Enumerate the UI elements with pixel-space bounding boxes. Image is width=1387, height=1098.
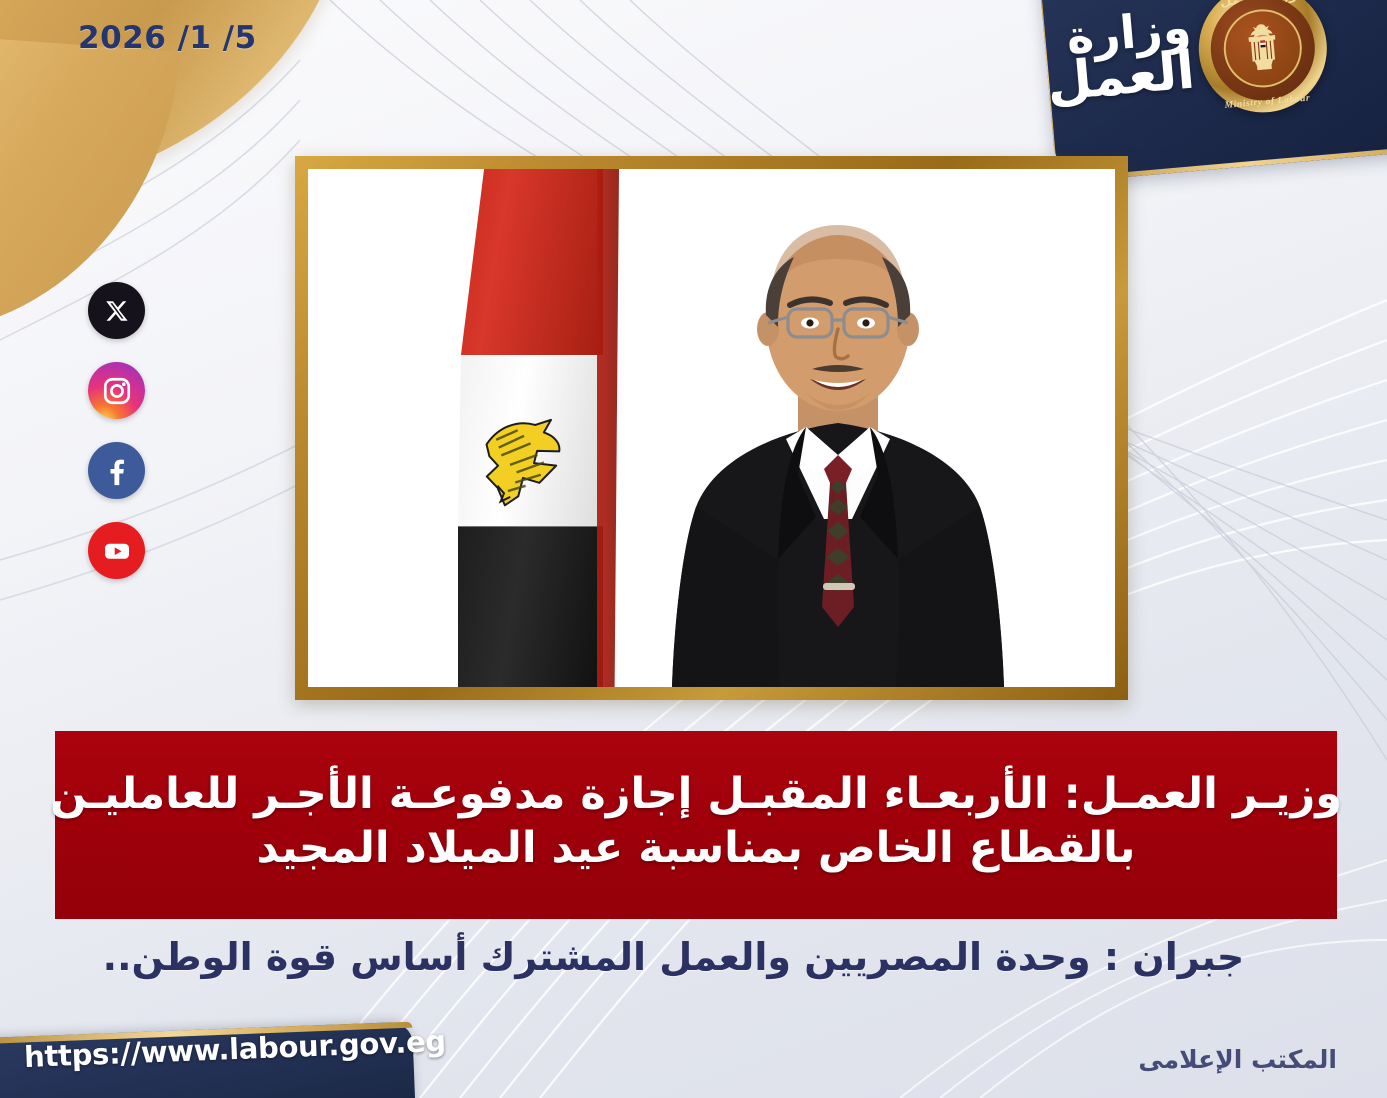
social-links — [88, 282, 145, 579]
poster-canvas: 2026 /1 /5 وزارة العمل وزارة العمل — [0, 0, 1387, 1098]
media-office-label: المكتب الإعلامى — [1138, 1045, 1337, 1074]
ministry-name-arabic: وزارة العمل — [1041, 6, 1197, 117]
social-icon-x-twitter[interactable] — [88, 282, 145, 339]
ministry-logo: وزارة العمل وزارة العمل — [1037, 0, 1382, 162]
facebook-icon — [100, 454, 134, 488]
social-icon-youtube[interactable] — [88, 522, 145, 579]
youtube-icon — [101, 535, 133, 567]
emblem-inner-disc — [1206, 0, 1319, 105]
emblem-core — [1221, 6, 1306, 91]
headline-line-1: وزيـر العمـل: الأربعـاء المقبـل إجازة مد… — [50, 768, 1342, 822]
egyptian-flag — [458, 169, 603, 687]
portrait-photo — [308, 169, 1115, 687]
headline-banner: وزيـر العمـل: الأربعـاء المقبـل إجازة مد… — [55, 731, 1337, 919]
social-icon-facebook[interactable] — [88, 442, 145, 499]
eagle-of-saladin-icon — [1234, 18, 1291, 78]
social-icon-instagram[interactable] — [88, 362, 145, 419]
subtitle-text: جبران : وحدة المصريين والعمل المشترك أسا… — [0, 935, 1387, 979]
flag-band-red — [458, 169, 603, 355]
flag-eagle-emblem-icon — [472, 409, 571, 519]
instagram-icon — [101, 375, 133, 407]
headline-line-2: بالقطاع الخاص بمناسبة عيد الميلاد المجيد — [257, 822, 1136, 876]
x-twitter-icon — [104, 298, 130, 324]
flag-band-black — [458, 526, 603, 687]
ministry-name-line2: العمل — [1045, 48, 1197, 109]
flag-fold-edge — [597, 169, 619, 687]
ministry-emblem-icon: وزارة العمل — [1193, 0, 1332, 118]
portrait-photo-frame — [295, 156, 1128, 700]
publication-date: 2026 /1 /5 — [78, 20, 257, 56]
minister-portrait-illustration — [638, 187, 1038, 687]
